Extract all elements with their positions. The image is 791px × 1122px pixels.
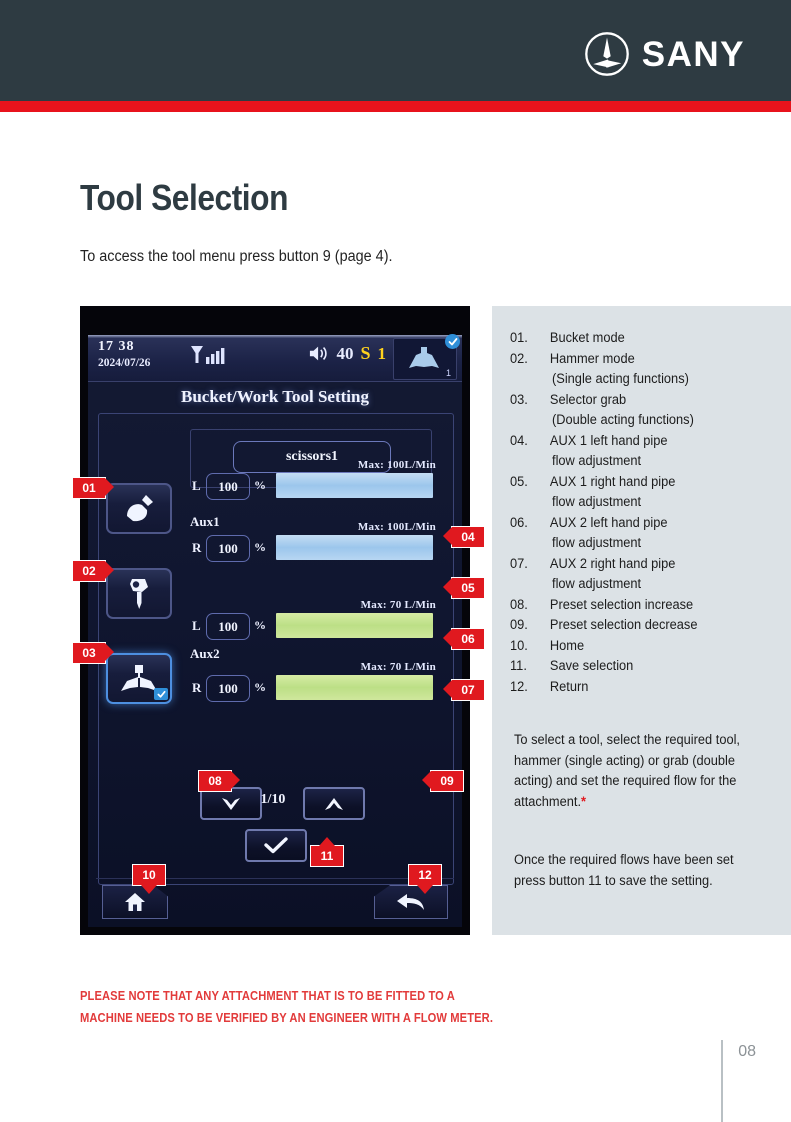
list-item: 08.Preset selection increase xyxy=(510,595,765,616)
list-item: 03.Selector grab xyxy=(510,390,765,411)
legend-label: Home xyxy=(550,636,584,657)
flow-bar-aux1-left[interactable] xyxy=(276,473,433,498)
asterisk-marker: * xyxy=(581,794,586,809)
callout-09: 09 xyxy=(430,770,464,792)
legend-label: AUX 2 right hand pipe xyxy=(550,554,675,575)
aux2-group-label: Aux2 xyxy=(190,646,220,662)
callout-07: 07 xyxy=(451,679,485,701)
callout-08: 08 xyxy=(198,770,232,792)
flow-row-aux2-right: Max: 70 L/Min R 100 % xyxy=(188,661,440,723)
tool-button-bucket[interactable] xyxy=(106,483,172,534)
preset-increase-button[interactable] xyxy=(303,787,365,820)
list-item: 09.Preset selection decrease xyxy=(510,615,765,636)
page-number-rule xyxy=(721,1040,723,1122)
tool-button-grab[interactable] xyxy=(106,653,172,704)
callout-12: 12 xyxy=(408,864,442,886)
legend-number: 05. xyxy=(510,472,550,493)
volume-value: 40 xyxy=(336,344,353,364)
home-button[interactable] xyxy=(102,885,168,919)
preset-page-indicator: 1/10 xyxy=(243,792,303,808)
instruction-text: To select a tool, select the required to… xyxy=(514,732,740,809)
legend-number: 02. xyxy=(510,349,550,370)
legend-label: Preset selection increase xyxy=(550,595,693,616)
flow-bar-aux1-right[interactable] xyxy=(276,535,433,560)
list-item: 01.Bucket mode xyxy=(510,328,765,349)
flow-bar-aux2-left[interactable] xyxy=(276,613,433,638)
list-item: 07.AUX 2 right hand pipe xyxy=(510,554,765,575)
legend-label: Selector grab xyxy=(550,390,626,411)
brand-name: SANY xyxy=(642,37,745,72)
callout-04: 04 xyxy=(451,526,485,548)
check-badge-icon xyxy=(445,334,460,349)
callout-05: 05 xyxy=(451,577,485,599)
flow-side-label: R xyxy=(192,680,201,696)
flow-unit-label: % xyxy=(254,618,266,633)
legend-number: 10. xyxy=(510,636,550,657)
legend-sublabel: flow adjustment xyxy=(552,533,767,554)
flow-value-aux2-right[interactable]: 100 xyxy=(206,675,250,702)
bucket-icon xyxy=(122,494,156,524)
status-date: 2024/07/26 xyxy=(98,357,150,369)
tool-mode-column xyxy=(106,483,172,738)
intro-text: To access the tool menu press button 9 (… xyxy=(80,248,393,266)
callout-02: 02 xyxy=(72,560,106,582)
legend-sublabel: (Double acting functions) xyxy=(552,410,767,431)
mode-value: 1 xyxy=(378,344,387,364)
grab-icon xyxy=(119,665,159,693)
flow-side-label: L xyxy=(192,478,201,494)
legend-number: 04. xyxy=(510,431,550,452)
flow-unit-label: % xyxy=(254,680,266,695)
instruction-paragraph-1: To select a tool, select the required to… xyxy=(514,730,763,812)
legend-list: 01.Bucket mode 02.Hammer mode (Single ac… xyxy=(510,328,778,697)
speaker-icon xyxy=(309,345,329,362)
flow-unit-label: % xyxy=(254,478,266,493)
legend-label: AUX 2 left hand pipe xyxy=(550,513,668,534)
instruction-paragraph-2: Once the required flows have been set pr… xyxy=(514,850,763,891)
warning-note-line1: PLEASE NOTE THAT ANY ATTACHMENT THAT IS … xyxy=(80,985,493,1007)
list-item: 05.AUX 1 right hand pipe xyxy=(510,472,765,493)
chevron-down-icon xyxy=(221,797,241,811)
list-item: 12.Return xyxy=(510,677,765,698)
brand-logo: SANY xyxy=(584,31,745,77)
callout-03: 03 xyxy=(72,642,106,664)
page-header: SANY xyxy=(0,0,791,101)
legend-label: AUX 1 left hand pipe xyxy=(550,431,668,452)
callout-11: 11 xyxy=(310,845,344,867)
flow-max-label: Max: 100L/Min xyxy=(358,459,436,471)
legend-number: 03. xyxy=(510,390,550,411)
return-button[interactable] xyxy=(374,885,448,919)
lcd-screen-photo: 17 38 2024/07/26 40 S 1 xyxy=(80,306,470,935)
back-arrow-icon xyxy=(396,892,426,912)
legend-number: 06. xyxy=(510,513,550,534)
flow-row-aux2-left: Max: 70 L/Min L 100 % xyxy=(188,599,440,661)
status-right-group: 40 S 1 xyxy=(309,343,386,364)
flow-max-label: Max: 70 L/Min xyxy=(361,599,436,611)
flow-side-label: R xyxy=(192,540,201,556)
flow-value-aux2-left[interactable]: 100 xyxy=(206,613,250,640)
callout-01: 01 xyxy=(72,477,106,499)
flow-value-aux1-right[interactable]: 100 xyxy=(206,535,250,562)
flow-row-aux1-right: Max: 100L/Min R 100 % xyxy=(188,521,440,583)
page-number: 08 xyxy=(738,1043,756,1061)
legend-label: Bucket mode xyxy=(550,328,625,349)
legend-number: 08. xyxy=(510,595,550,616)
legend-label: Hammer mode xyxy=(550,349,635,370)
lcd-display: 17 38 2024/07/26 40 S 1 xyxy=(88,335,462,927)
flow-row-aux1-left: Max: 100L/Min L 100 % xyxy=(188,459,440,521)
legend-number: 01. xyxy=(510,328,550,349)
legend-label: Preset selection decrease xyxy=(550,615,698,636)
warning-note-line2: MACHINE NEEDS TO BE VERIFIED BY AN ENGIN… xyxy=(80,1007,493,1029)
list-item: 11.Save selection xyxy=(510,656,765,677)
flow-unit-label: % xyxy=(254,540,266,555)
page-title: Tool Selection xyxy=(80,177,288,219)
legend-label: Save selection xyxy=(550,656,633,677)
legend-number: 07. xyxy=(510,554,550,575)
status-tool-indicator: 1 xyxy=(393,338,457,380)
legend-number: 11. xyxy=(510,656,550,677)
flow-max-label: Max: 100L/Min xyxy=(358,521,436,533)
tool-selected-badge xyxy=(154,688,168,700)
check-icon xyxy=(264,837,288,854)
legend-label: Return xyxy=(550,677,589,698)
callout-06: 06 xyxy=(451,628,485,650)
flow-value-aux1-left[interactable]: 100 xyxy=(206,473,250,500)
status-bar: 17 38 2024/07/26 40 S 1 xyxy=(88,335,462,382)
legend-number: 09. xyxy=(510,615,550,636)
warning-note: PLEASE NOTE THAT ANY ATTACHMENT THAT IS … xyxy=(80,985,493,1029)
legend-panel: 01.Bucket mode 02.Hammer mode (Single ac… xyxy=(492,306,791,935)
sany-emblem-icon xyxy=(584,31,630,77)
hammer-icon xyxy=(125,577,153,611)
callout-10: 10 xyxy=(132,864,166,886)
status-time: 17 38 xyxy=(98,339,135,355)
legend-sublabel: (Single acting functions) xyxy=(552,369,767,390)
home-icon xyxy=(124,892,146,912)
legend-sublabel: flow adjustment xyxy=(552,451,767,472)
mode-letter: S xyxy=(360,343,370,364)
flow-side-label: L xyxy=(192,618,201,634)
signal-bars-icon xyxy=(189,344,229,375)
flow-bar-aux2-right[interactable] xyxy=(276,675,433,700)
flow-max-label: Max: 70 L/Min xyxy=(361,661,436,673)
tool-button-hammer[interactable] xyxy=(106,568,172,619)
legend-number: 12. xyxy=(510,677,550,698)
save-selection-button[interactable] xyxy=(245,829,307,862)
list-item: 06.AUX 2 left hand pipe xyxy=(510,513,765,534)
legend-sublabel: flow adjustment xyxy=(552,574,767,595)
list-item: 10.Home xyxy=(510,636,765,657)
screen-title: Bucket/Work Tool Setting xyxy=(88,387,462,407)
legend-sublabel: flow adjustment xyxy=(552,492,767,513)
accent-bar xyxy=(0,101,791,112)
list-item: 04.AUX 1 left hand pipe xyxy=(510,431,765,452)
chevron-up-icon xyxy=(324,797,344,811)
legend-label: AUX 1 right hand pipe xyxy=(550,472,675,493)
flow-sliders: Max: 100L/Min L 100 % Aux1 Max: 100L/Min… xyxy=(188,459,440,723)
status-tool-number: 1 xyxy=(446,368,451,378)
list-item: 02.Hammer mode xyxy=(510,349,765,370)
